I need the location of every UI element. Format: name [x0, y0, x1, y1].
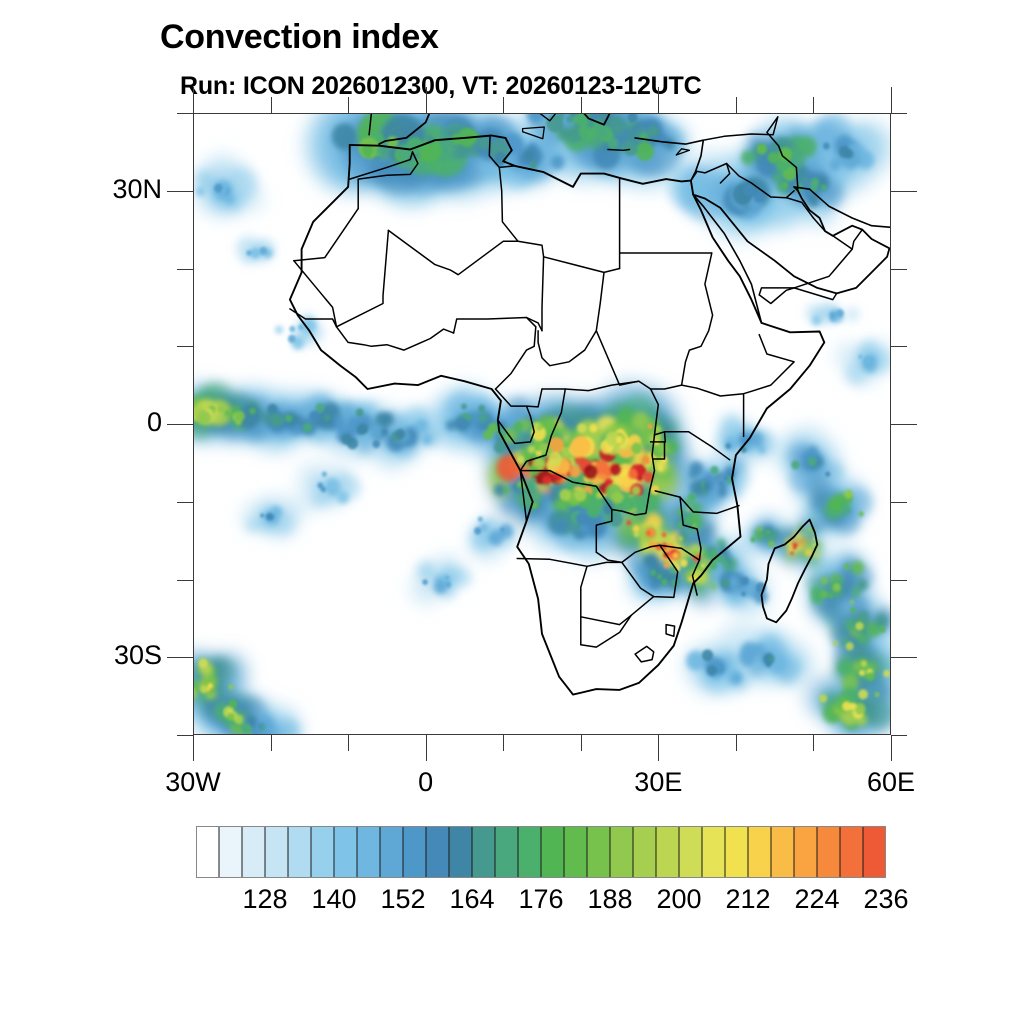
colorbar-band-29	[863, 826, 886, 878]
map-canvas	[193, 113, 891, 735]
x-axis-label-2: 30E	[578, 767, 738, 798]
geo-line	[388, 230, 518, 274]
convection-index-figure: Convection index Run: ICON 2026012300, V…	[0, 0, 1024, 1024]
x-tick-10	[503, 735, 504, 751]
run-valid-time-subtitle: Run: ICON 2026012300, VT: 20260123-12UTC	[180, 72, 701, 101]
y-tick-right-20	[891, 269, 907, 270]
y-axis-label-2: 30S	[70, 640, 162, 671]
y-axis-label-0: 30N	[70, 174, 162, 205]
x-tick-top--10	[348, 97, 349, 113]
x-tick--10	[348, 735, 349, 751]
colorbar-band-6	[334, 826, 358, 878]
x-tick-top-0	[426, 87, 427, 113]
colorbar-band-9	[403, 826, 427, 878]
colorbar-band-11	[449, 826, 473, 878]
geo-line	[608, 150, 630, 151]
colorbar-band-21	[679, 826, 703, 878]
y-tick-right--40	[891, 735, 907, 736]
colorbar-band-27	[817, 826, 841, 878]
geo-line	[759, 288, 794, 304]
geo-line	[682, 253, 713, 388]
colorbar-band-23	[725, 826, 749, 878]
geo-line	[794, 288, 837, 300]
y-tick--30	[167, 657, 193, 658]
x-tick-top--20	[271, 97, 272, 113]
geo-line	[666, 625, 675, 637]
geo-line	[581, 562, 622, 644]
colorbar-band-1	[219, 826, 243, 878]
x-tick-top-50	[813, 97, 814, 113]
colorbar-band-5	[311, 826, 335, 878]
page-title: Convection index	[160, 18, 439, 57]
geo-line	[635, 646, 654, 662]
x-tick-20	[581, 735, 582, 751]
y-tick--20	[177, 580, 193, 581]
colorbar-band-7	[357, 826, 381, 878]
y-tick-right-0	[891, 424, 917, 425]
x-tick-50	[813, 735, 814, 751]
x-tick-top-10	[503, 97, 504, 113]
geo-line	[542, 257, 544, 331]
colorbar[interactable]	[196, 826, 886, 878]
colorbar-band-24	[748, 826, 772, 878]
colorbar-band-10	[426, 826, 450, 878]
geo-line	[337, 327, 454, 350]
colorbar-band-26	[794, 826, 818, 878]
x-axis-label-1: 0	[346, 767, 506, 798]
x-tick-40	[736, 735, 737, 751]
colorbar-band-18	[610, 826, 634, 878]
geo-line	[496, 327, 536, 389]
y-tick-right--30	[891, 657, 917, 658]
x-axis-label-3: 60E	[811, 767, 971, 798]
colorbar-bands	[196, 826, 886, 878]
colorbar-band-14	[518, 826, 542, 878]
y-tick-30	[167, 191, 193, 192]
colorbar-band-19	[633, 826, 657, 878]
colorbar-band-0	[196, 826, 220, 878]
geo-line	[581, 597, 654, 625]
x-tick-0	[426, 735, 427, 761]
colorbar-band-8	[380, 826, 404, 878]
colorbar-band-3	[265, 826, 289, 878]
y-tick--40	[177, 735, 193, 736]
x-axis-label-0: 30W	[113, 767, 273, 798]
y-tick-20	[177, 269, 193, 270]
colorbar-band-13	[495, 826, 519, 878]
colorbar-band-16	[564, 826, 588, 878]
y-tick-right--10	[891, 502, 907, 503]
x-tick-top-20	[581, 97, 582, 113]
colorbar-band-15	[541, 826, 565, 878]
y-tick-40	[177, 113, 193, 114]
geo-line	[581, 615, 631, 647]
colorbar-tick-label-9: 236	[826, 884, 946, 915]
x-tick--20	[271, 735, 272, 751]
geo-line	[538, 272, 604, 365]
colorbar-band-4	[288, 826, 312, 878]
colorbar-band-12	[472, 826, 496, 878]
colorbar-band-28	[840, 826, 864, 878]
y-tick-right-40	[891, 113, 907, 114]
y-tick-right-10	[891, 346, 907, 347]
map-panel	[193, 113, 891, 735]
x-tick--30	[193, 735, 194, 761]
y-tick-right--20	[891, 580, 907, 581]
geo-line	[697, 335, 794, 396]
geo-line	[294, 209, 358, 261]
y-tick--10	[177, 502, 193, 503]
geo-line	[294, 230, 389, 326]
x-tick-30	[658, 735, 659, 761]
geo-line	[759, 249, 852, 295]
colorbar-band-22	[702, 826, 726, 878]
colorbar-band-20	[656, 826, 680, 878]
x-tick-60	[891, 735, 892, 761]
x-tick-top-40	[736, 97, 737, 113]
geo-line	[518, 241, 620, 272]
geo-line	[596, 331, 681, 389]
x-tick-top-60	[891, 87, 892, 113]
y-tick-0	[167, 424, 193, 425]
colorbar-band-17	[587, 826, 611, 878]
y-axis-label-1: 0	[70, 407, 162, 438]
colorbar-band-25	[771, 826, 795, 878]
x-tick-top--30	[193, 87, 194, 113]
geo-line	[703, 136, 724, 140]
y-tick-right-30	[891, 191, 917, 192]
convection-field	[193, 113, 891, 735]
x-tick-top-30	[658, 87, 659, 113]
y-tick-10	[177, 346, 193, 347]
colorbar-band-2	[242, 826, 266, 878]
